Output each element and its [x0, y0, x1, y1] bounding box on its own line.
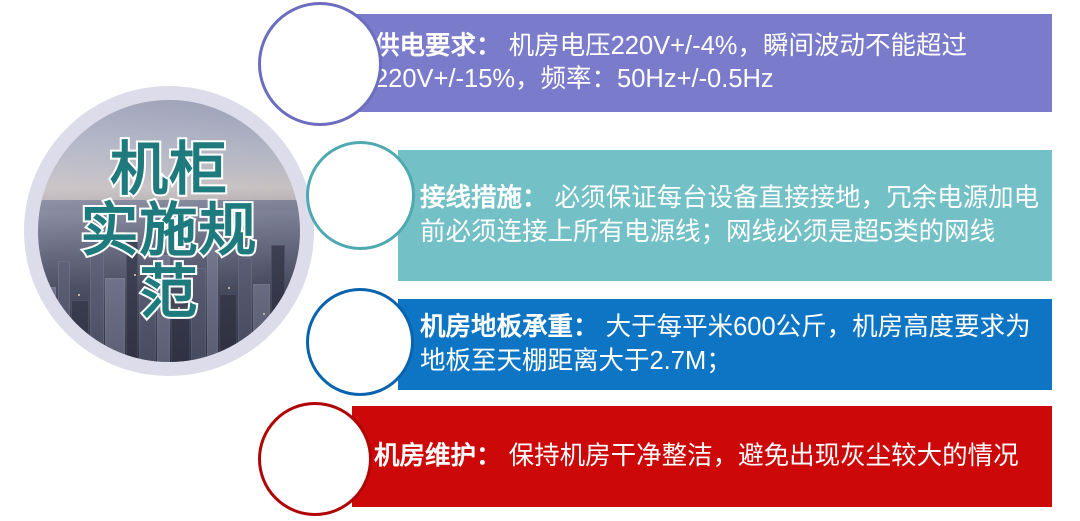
bar-heading-room-maintenance: 机房维护： [374, 442, 502, 470]
bar-text-floor-load: 机房地板承重： 大于每平米600公斤，机房高度要求为地板至天棚距离大于2.7M； [420, 311, 1052, 377]
page-title: 机柜 实施规 范 [38, 100, 300, 362]
bar-heading-wiring-measures: 接线措施： [420, 184, 548, 212]
bar-text-power-supply: 供电要求： 机房电压220V+/-4%，瞬间波动不能超过220V+/-15%，频… [374, 30, 1052, 96]
bar-text-room-maintenance: 机房维护： 保持机房干净整洁，避免出现灰尘较大的情况 [374, 440, 1019, 473]
bullet-circle-floor-load [306, 288, 414, 396]
bar-room-maintenance: 机房维护： 保持机房干净整洁，避免出现灰尘较大的情况 [352, 406, 1052, 507]
bar-floor-load: 机房地板承重： 大于每平米600公斤，机房高度要求为地板至天棚距离大于2.7M； [398, 299, 1052, 390]
bar-wiring-measures: 接线措施： 必须保证每台设备直接接地，冗余电源加电前必须连接上所有电源线；网线必… [398, 150, 1052, 281]
title-circle: 机柜 实施规 范 [24, 86, 314, 376]
bar-power-supply: 供电要求： 机房电压220V+/-4%，瞬间波动不能超过220V+/-15%，频… [352, 14, 1052, 112]
infographic-canvas: 机柜 实施规 范 供电要求： 机房电压220V+/-4%，瞬间波动不能超过220… [0, 0, 1080, 521]
bullet-circle-room-maintenance [258, 402, 372, 516]
bar-body-room-maintenance: 保持机房干净整洁，避免出现灰尘较大的情况 [502, 442, 1019, 470]
bullet-circle-wiring-measures [306, 141, 415, 250]
bar-heading-floor-load: 机房地板承重： [420, 313, 599, 341]
bar-heading-power-supply: 供电要求： [374, 32, 502, 60]
bullet-circle-power-supply [258, 2, 382, 126]
bar-text-wiring-measures: 接线措施： 必须保证每台设备直接接地，冗余电源加电前必须连接上所有电源线；网线必… [420, 182, 1052, 248]
